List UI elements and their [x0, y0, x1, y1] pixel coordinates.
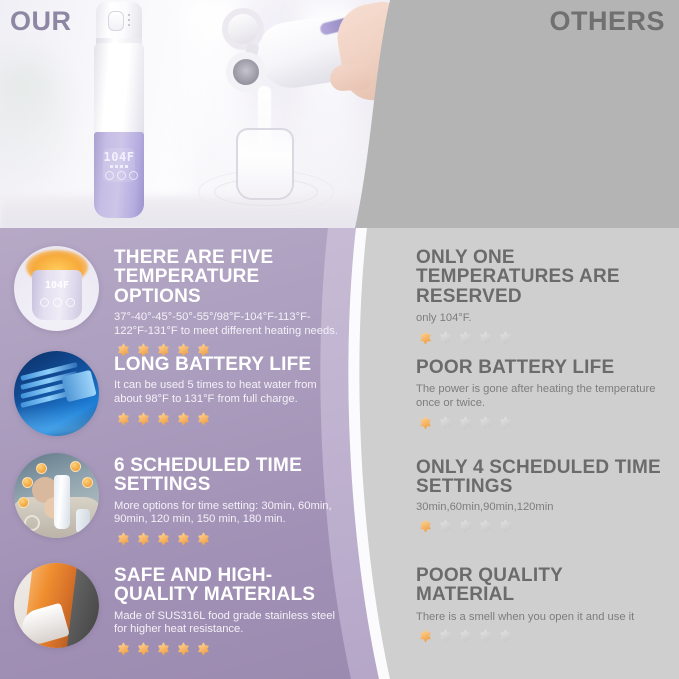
- other-feature-title-3: ONLY 4 SCHEDULED TIME SETTINGS: [416, 458, 666, 497]
- our-feature-title-2: LONG BATTERY LIFE: [114, 355, 342, 374]
- other-feature-text-1: ONLY ONE TEMPERATURES ARE RESERVED only …: [416, 248, 666, 349]
- star-icon: [436, 415, 455, 434]
- thumb-temp-readout: 104F: [38, 280, 76, 291]
- star-icon: [154, 531, 173, 550]
- other-feature-title-4: POOR QUALITY MATERIAL: [416, 566, 666, 605]
- our-feature-desc-4: Made of SUS316L food grade stainless ste…: [114, 610, 346, 637]
- star-icon: [436, 628, 455, 647]
- other-feature-desc-4: There is a smell when you open it and us…: [416, 611, 666, 625]
- comparison-body: 104F THERE ARE FIVE TEMPERATURE OPTIONS …: [0, 228, 679, 679]
- bottle-cap-button: [108, 11, 124, 31]
- pouring-scene: [212, 0, 387, 225]
- star-icon: [476, 518, 495, 537]
- glass-milk-fill: [238, 152, 292, 198]
- our-feature-text-4: SAFE AND HIGH-QUALITY MATERIALS Made of …: [114, 566, 346, 660]
- star-icon: [476, 628, 495, 647]
- star-icon: [416, 415, 435, 434]
- other-rating-4: [416, 628, 666, 647]
- star-icon: [496, 628, 515, 647]
- star-icon: [416, 518, 435, 537]
- star-icon: [456, 518, 475, 537]
- others-title: OTHERS: [549, 8, 665, 35]
- our-feature-desc-1: 37°-40°-45°-50°-55°/98°F-104°F-113°F-122…: [114, 311, 342, 338]
- star-icon: [154, 641, 173, 660]
- bottle-cap-dots-icon: [128, 14, 131, 28]
- star-icon: [194, 531, 213, 550]
- other-feature-title-2: POOR BATTERY LIFE: [416, 358, 666, 377]
- our-feature-text-3: 6 SCHEDULED TIME SETTINGS More options f…: [114, 456, 342, 550]
- star-icon: [496, 330, 515, 349]
- star-icon: [496, 415, 515, 434]
- star-icon: [174, 411, 193, 430]
- our-feature-title-4: SAFE AND HIGH-QUALITY MATERIALS: [114, 566, 346, 605]
- star-icon: [456, 628, 475, 647]
- sleeping-couple-icon: [14, 453, 99, 538]
- star-icon: [416, 330, 435, 349]
- bottle-temperature-readout: 104F: [103, 150, 135, 164]
- star-icon: [436, 330, 455, 349]
- other-rating-3: [416, 518, 666, 537]
- our-feature-text-1: THERE ARE FIVE TEMPERATURE OPTIONS 37°-4…: [114, 248, 342, 361]
- star-icon: [134, 411, 153, 430]
- pouring-bottle-lid: [222, 8, 264, 50]
- our-feature-title-3: 6 SCHEDULED TIME SETTINGS: [114, 456, 342, 495]
- star-icon: [114, 641, 133, 660]
- other-feature-desc-2: The power is gone after heating the temp…: [416, 383, 666, 410]
- star-icon: [476, 330, 495, 349]
- our-feature-text-2: LONG BATTERY LIFE It can be used 5 times…: [114, 355, 342, 430]
- other-feature-desc-3: 30min,60min,90min,120min: [416, 501, 666, 515]
- star-icon: [134, 641, 153, 660]
- our-feature-desc-3: More options for time setting: 30min, 60…: [114, 500, 342, 527]
- our-title: OUR: [10, 8, 72, 35]
- header-hero: BUXIZQ 104F: [0, 0, 679, 228]
- star-icon: [436, 518, 455, 537]
- our-rating-2: [114, 411, 342, 430]
- other-feature-title-1: ONLY ONE TEMPERATURES ARE RESERVED: [416, 248, 666, 306]
- bottle-level-bars-icon: [110, 165, 128, 168]
- our-feature-desc-2: It can be used 5 times to heat water fro…: [114, 379, 342, 406]
- other-feature-desc-1: only 104°F.: [416, 312, 666, 326]
- star-icon: [416, 628, 435, 647]
- star-icon: [194, 641, 213, 660]
- bottle-base: 104F: [94, 132, 144, 218]
- our-rating-3: [114, 531, 342, 550]
- other-rating-1: [416, 330, 666, 349]
- steel-sheets-icon: [14, 563, 99, 648]
- hero-bokeh-left: [0, 60, 60, 180]
- our-feature-title-1: THERE ARE FIVE TEMPERATURE OPTIONS: [114, 248, 342, 306]
- star-icon: [194, 411, 213, 430]
- warmer-glow-icon: 104F: [14, 246, 99, 331]
- our-product-bottle: BUXIZQ 104F: [88, 2, 150, 218]
- our-rating-4: [114, 641, 346, 660]
- star-icon: [456, 330, 475, 349]
- other-feature-text-2: POOR BATTERY LIFE The power is gone afte…: [416, 358, 666, 434]
- other-feature-text-4: POOR QUALITY MATERIAL There is a smell w…: [416, 566, 666, 647]
- battery-cells-icon: [14, 351, 99, 436]
- star-icon: [114, 411, 133, 430]
- comparison-infographic: BUXIZQ 104F: [0, 0, 679, 679]
- bottle-display-screen: 104F: [103, 148, 135, 182]
- other-feature-text-3: ONLY 4 SCHEDULED TIME SETTINGS 30min,60m…: [416, 458, 666, 537]
- star-icon: [134, 531, 153, 550]
- star-icon: [154, 411, 173, 430]
- other-rating-2: [416, 415, 666, 434]
- star-icon: [476, 415, 495, 434]
- star-icon: [174, 641, 193, 660]
- star-icon: [114, 531, 133, 550]
- bottle-control-buttons: [105, 171, 138, 180]
- star-icon: [174, 531, 193, 550]
- star-icon: [456, 415, 475, 434]
- star-icon: [496, 518, 515, 537]
